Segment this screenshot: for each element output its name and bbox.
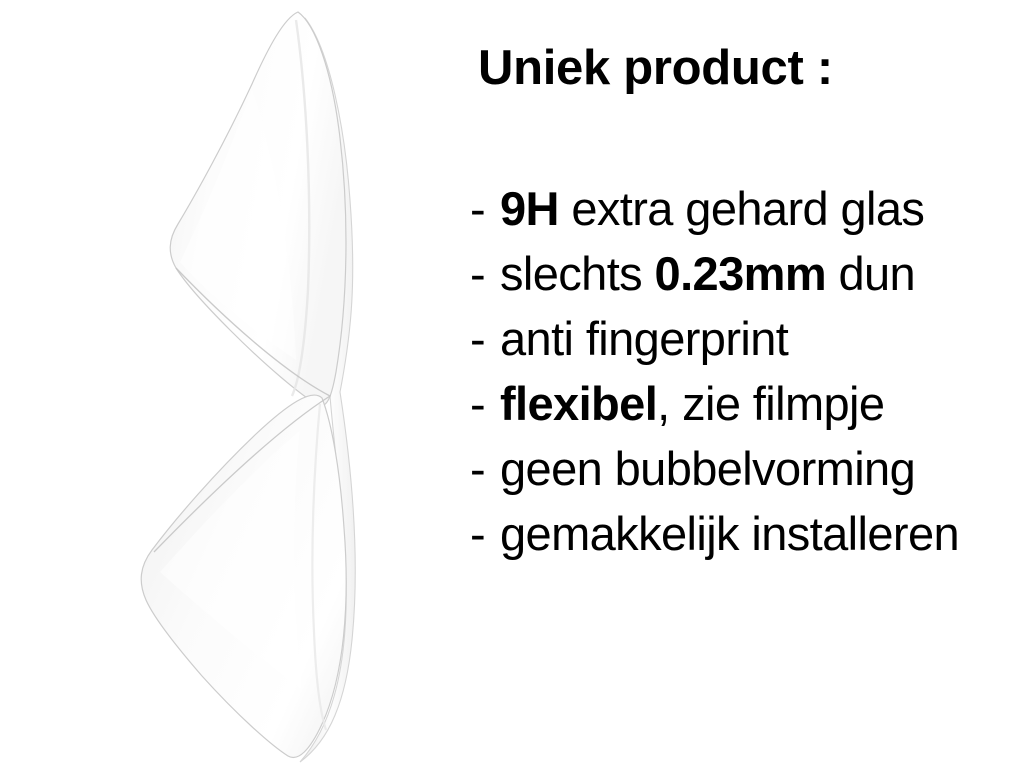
bullet-dash: - — [470, 436, 500, 501]
feature-emphasis: 0.23mm — [655, 247, 826, 300]
feature-text: geen bubbelvorming — [500, 442, 915, 495]
feature-text: anti fingerprint — [500, 312, 788, 365]
feature-item-flexible: -flexibel, zie filmpje — [470, 371, 1024, 436]
feature-emphasis: 9H — [500, 182, 559, 235]
feature-item-anti-fingerprint: -anti fingerprint — [470, 306, 1024, 371]
feature-text: , zie filmpje — [657, 377, 884, 430]
bullet-dash: - — [470, 371, 500, 436]
glass-illustration — [0, 0, 460, 768]
bullet-dash: - — [470, 176, 500, 241]
feature-item-no-bubbles: -geen bubbelvorming — [470, 436, 1024, 501]
feature-text: extra gehard glas — [559, 182, 924, 235]
feature-item-thickness: -slechts 0.23mm dun — [470, 241, 1024, 306]
page-title: Uniek product : — [478, 44, 833, 93]
slide-canvas: Uniek product : -9H extra gehard glas -s… — [0, 0, 1024, 768]
feature-list: -9H extra gehard glas -slechts 0.23mm du… — [470, 176, 1024, 566]
bullet-dash: - — [470, 501, 500, 566]
feature-text: gemakkelijk installeren — [500, 507, 959, 560]
feature-item-9h: -9H extra gehard glas — [470, 176, 1024, 241]
copy-panel: Uniek product : -9H extra gehard glas -s… — [470, 0, 1024, 768]
feature-emphasis: flexibel — [500, 377, 657, 430]
feature-text-post: dun — [826, 247, 915, 300]
bullet-dash: - — [470, 306, 500, 371]
feature-text-pre: slechts — [500, 247, 655, 300]
bullet-dash: - — [470, 241, 500, 306]
feature-item-easy-install: -gemakkelijk installeren — [470, 501, 1024, 566]
